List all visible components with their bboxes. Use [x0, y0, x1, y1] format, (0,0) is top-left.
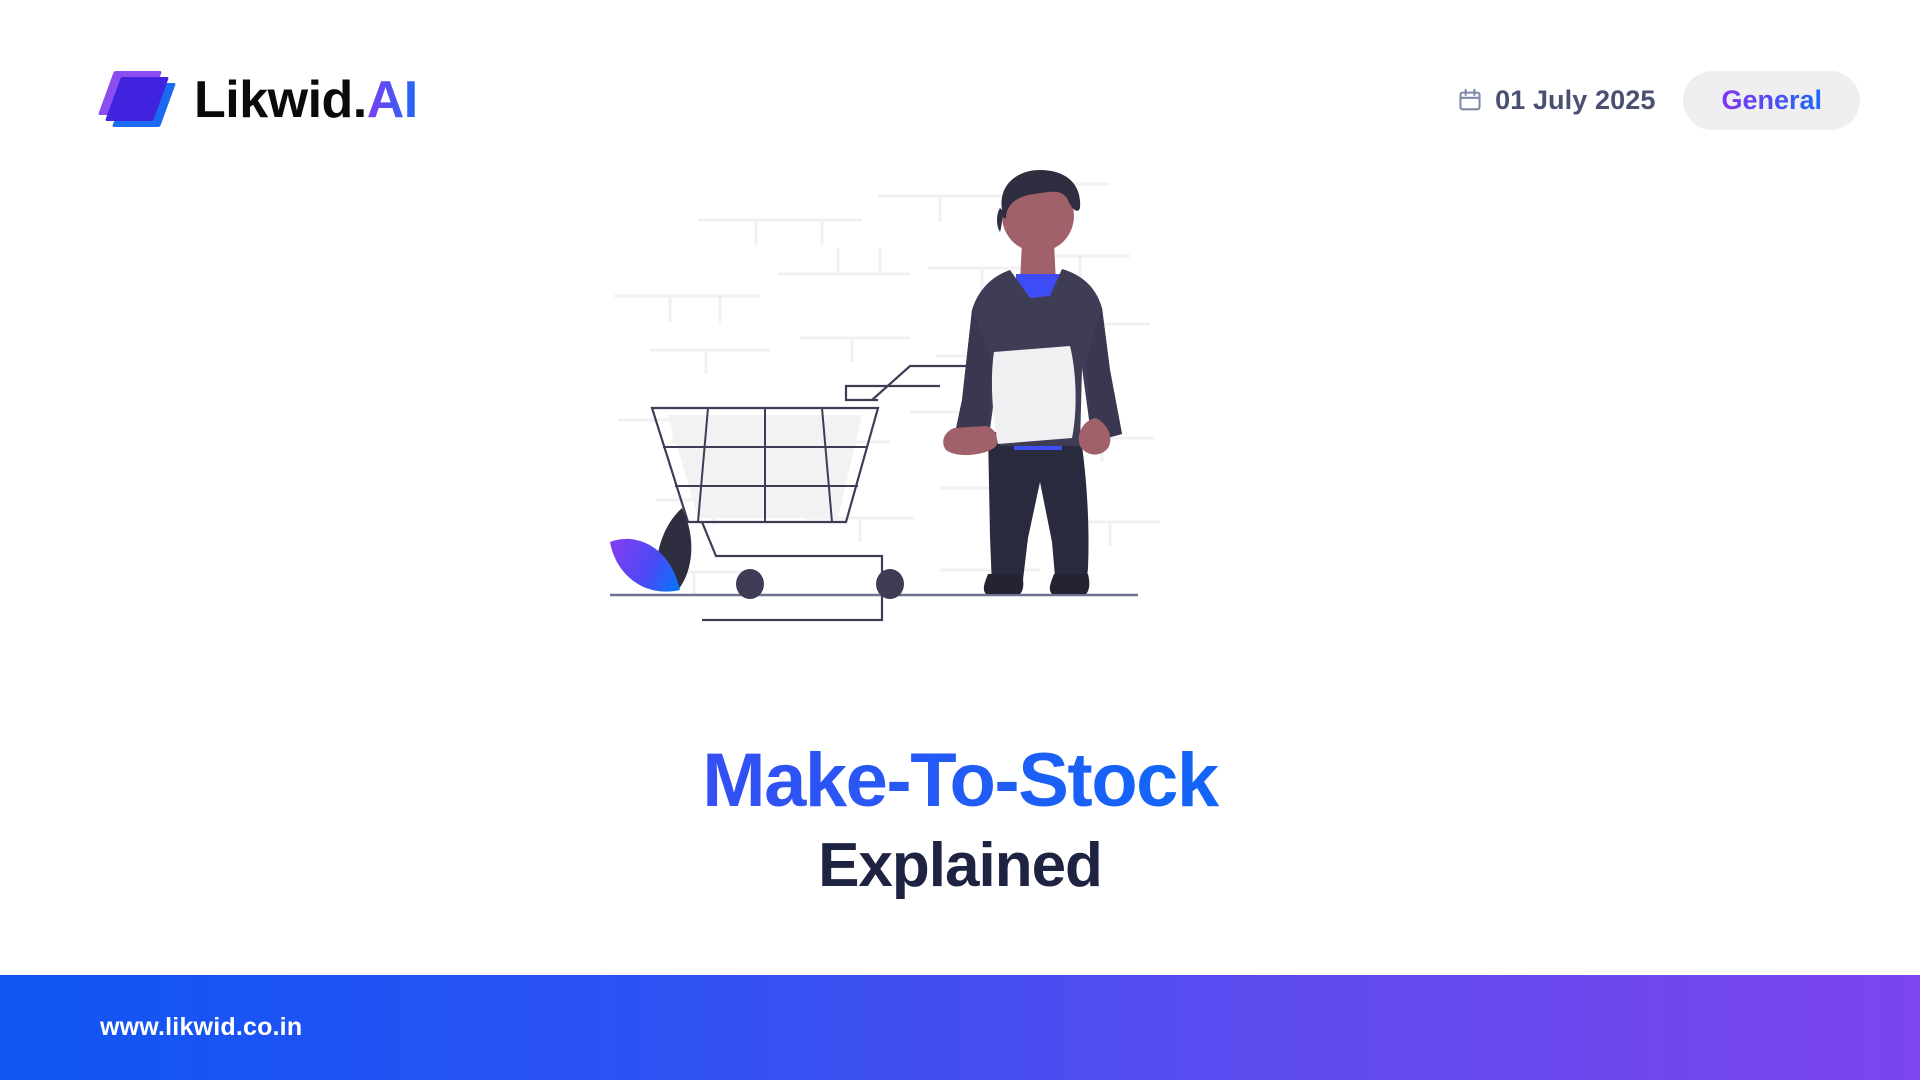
brand-wordmark: Likwid.AI — [194, 74, 418, 126]
hero-illustration — [0, 170, 1920, 730]
title-block: Make-To-Stock Explained — [0, 740, 1920, 901]
calendar-icon — [1457, 87, 1483, 113]
held-document — [992, 346, 1076, 444]
person-trousers — [988, 432, 1089, 588]
parallelogram-stack-logo-icon — [100, 69, 172, 131]
brand-logo[interactable]: Likwid.AI — [100, 69, 418, 131]
brand-name-accent: AI — [367, 71, 418, 129]
page-subtitle: Explained — [0, 830, 1920, 901]
cart-wheel-right — [876, 569, 904, 599]
category-badge[interactable]: General — [1683, 71, 1860, 130]
category-badge-label: General — [1721, 85, 1822, 115]
person-shoe-left — [984, 574, 1023, 594]
cart-wheel-left — [736, 569, 764, 599]
man-with-document-and-shopping-cart-graphic — [610, 170, 1310, 730]
page-title: Make-To-Stock — [0, 740, 1920, 822]
brand-name-primary: Likwid. — [194, 71, 367, 129]
standing-person — [943, 170, 1122, 594]
header-meta: 01 July 2025 General — [1457, 71, 1860, 130]
date-label: 01 July 2025 — [1495, 85, 1655, 116]
footer-bar: www.likwid.co.in — [0, 975, 1920, 1080]
poster-canvas: Likwid.AI 01 July 2025 General — [0, 0, 1920, 1080]
person-shoe-right — [1050, 574, 1089, 594]
leaf-decoration — [610, 508, 691, 592]
footer-website-url[interactable]: www.likwid.co.in — [100, 1013, 302, 1042]
publish-date: 01 July 2025 — [1457, 85, 1655, 116]
